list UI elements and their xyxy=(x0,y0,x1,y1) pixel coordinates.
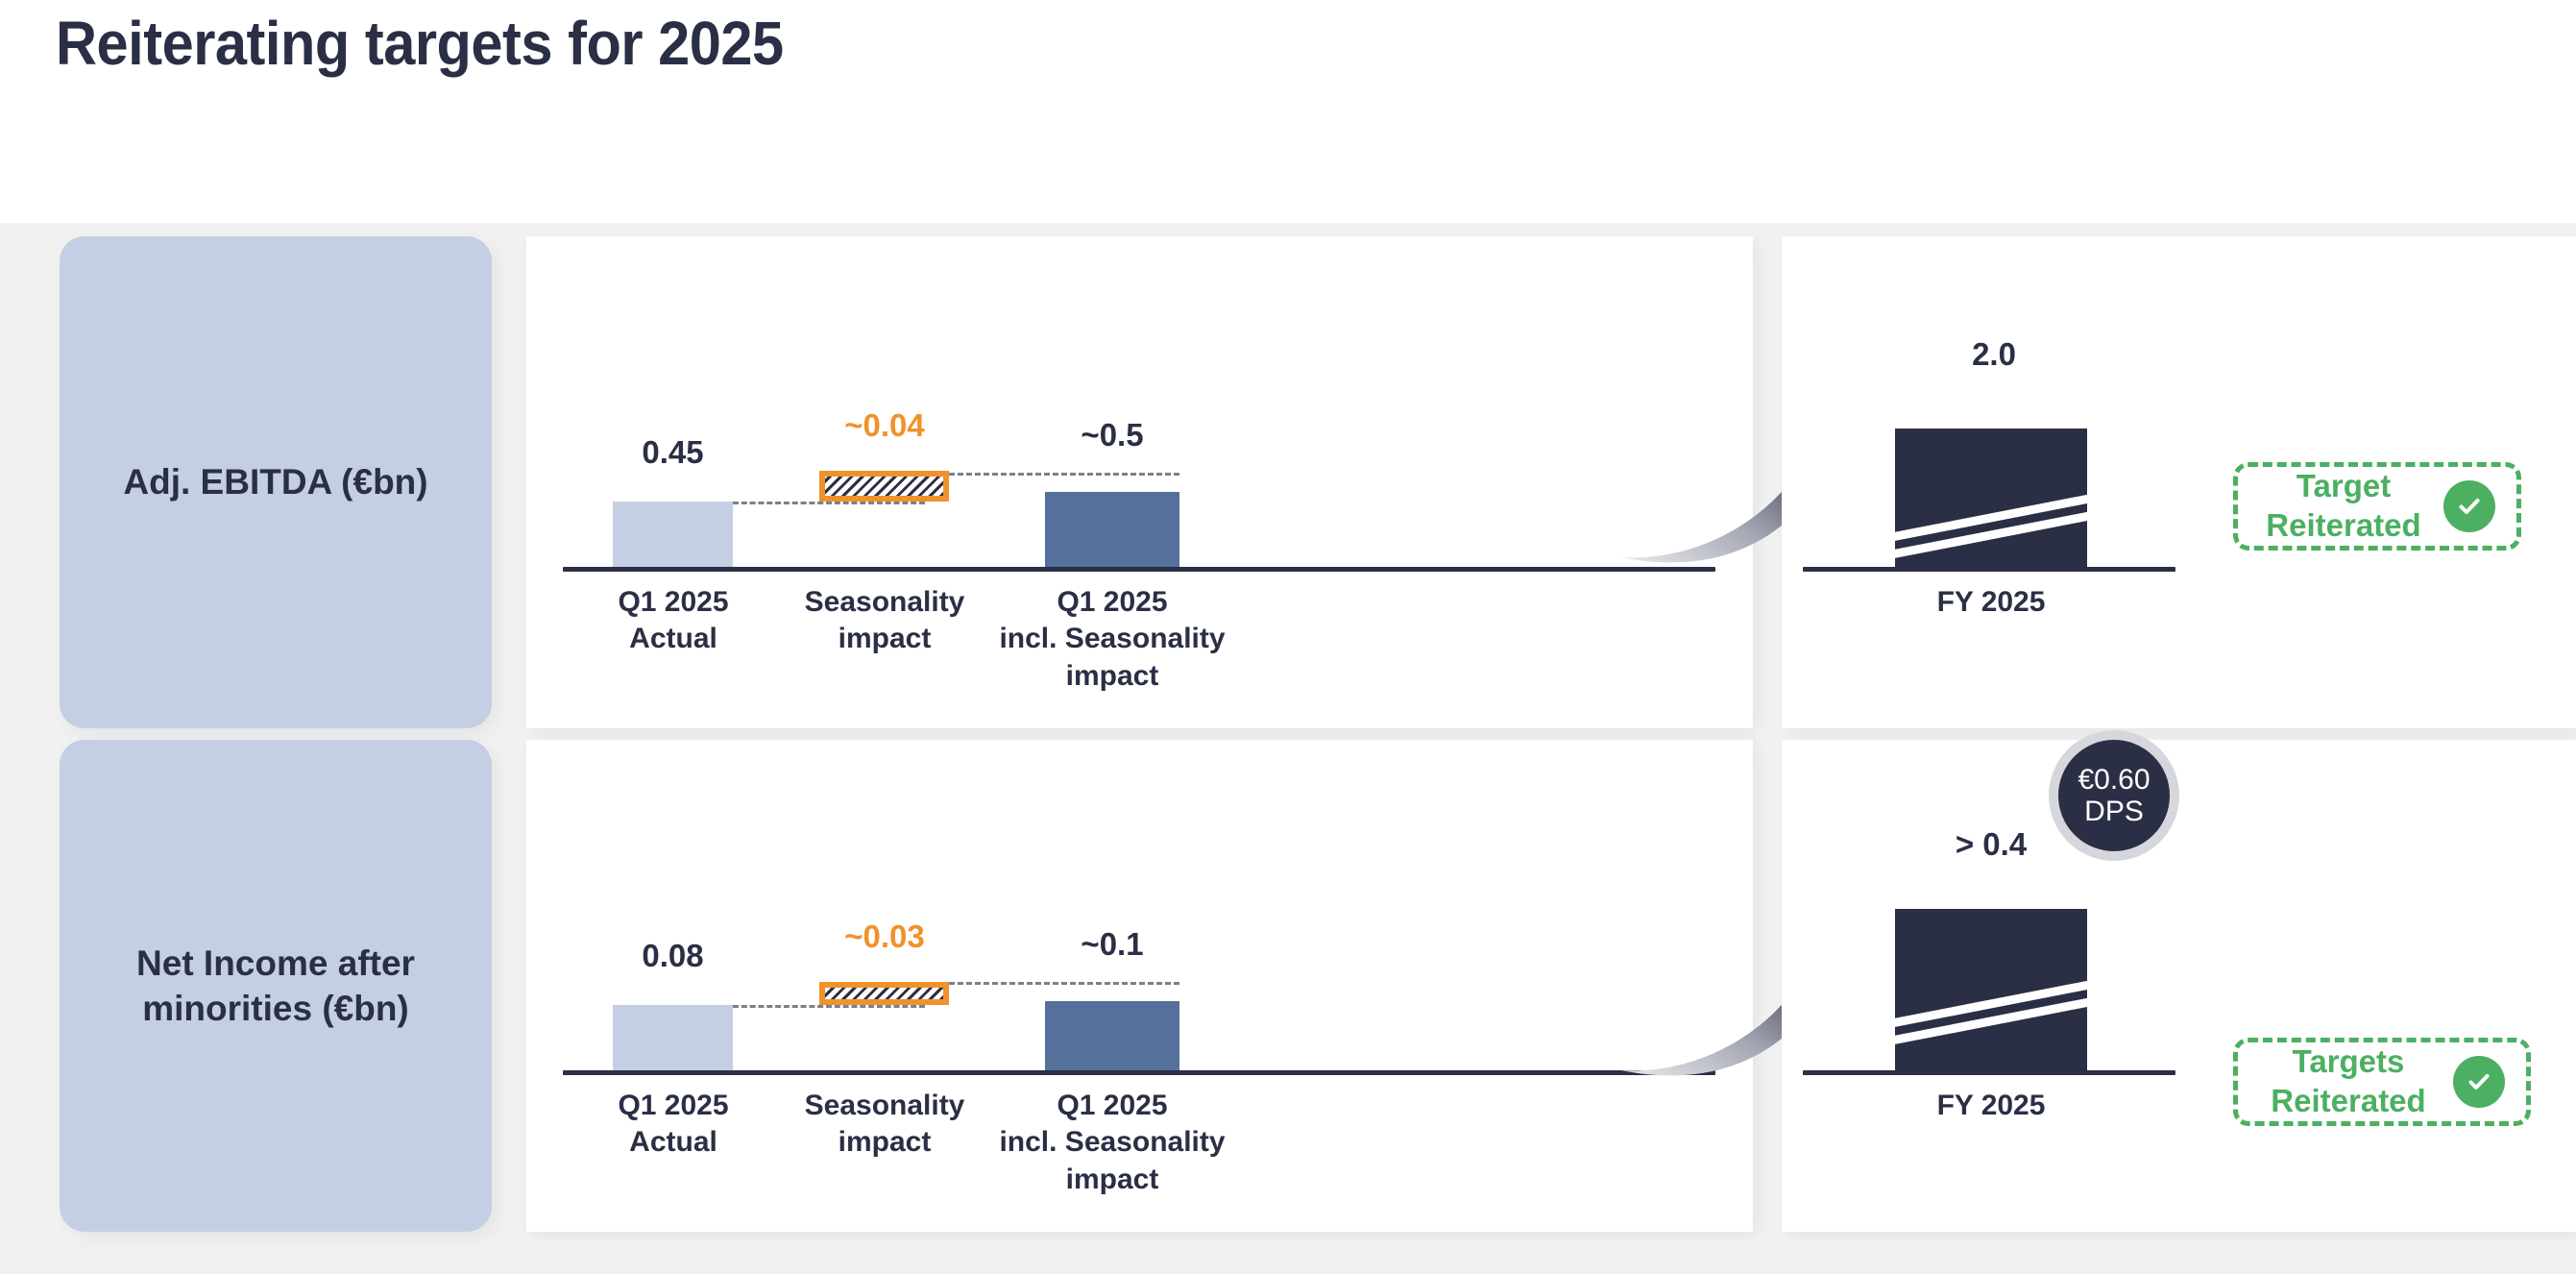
bar-value-q1-incl-seasonality: ~0.1 xyxy=(1018,926,1206,963)
check-circle-icon xyxy=(2453,1056,2505,1108)
bar-q1-incl-seasonality xyxy=(1045,1001,1179,1070)
bar-value-q1-incl-seasonality: ~0.5 xyxy=(1018,417,1206,453)
target-tag-text: Target Reiterated xyxy=(2238,467,2440,546)
bar-category-seasonality-impact: Seasonality impact xyxy=(774,584,995,658)
leader-line-2 xyxy=(949,982,1179,985)
target-panel-net-income: > 0.4 FY 2025 €0.60 DPS Targets Reiterat… xyxy=(1782,740,2576,1232)
target-axis xyxy=(1803,567,2175,572)
bridge-panel-net-income: 0.08 Q1 2025 Actual ~0.03 Seasonality im… xyxy=(526,740,1753,1232)
leader-line-1 xyxy=(733,1005,925,1008)
target-panel-adj-ebitda: 2.0 FY 2025 Target Reiterated xyxy=(1782,236,2576,728)
row-label-net-income: Net Income after minorities (€bn) xyxy=(60,740,492,1232)
slide-canvas: Reiterating targets for 2025 Adj. EBITDA… xyxy=(0,0,2576,1274)
category-line: impact xyxy=(983,658,1242,695)
row-label-line: Net Income after xyxy=(115,943,436,983)
category-line: Actual xyxy=(572,1124,774,1161)
bar-q1-actual xyxy=(613,502,733,567)
category-line: incl. Seasonality xyxy=(983,621,1242,657)
bar-seasonality-impact-hatched xyxy=(819,982,949,1005)
row-adj-ebitda: Adj. EBITDA (€bn) 0.45 Q1 2025 Actual ~0… xyxy=(0,236,2576,728)
category-line: Q1 2025 xyxy=(983,584,1242,621)
category-line: Q1 2025 xyxy=(572,584,774,621)
bar-value-seasonality-impact: ~0.03 xyxy=(793,919,976,955)
bar-category-fy-2025: FY 2025 xyxy=(1885,584,2097,621)
row-label-line: minorities (€bn) xyxy=(121,989,430,1028)
bar-value-fy-2025: 2.0 xyxy=(1903,336,2085,373)
bar-q1-actual xyxy=(613,1005,733,1070)
target-axis xyxy=(1803,1070,2175,1075)
row-label-adj-ebitda: Adj. EBITDA (€bn) xyxy=(60,236,492,728)
page-title: Reiterating targets for 2025 xyxy=(56,8,784,79)
target-tag-line: Targets xyxy=(2248,1042,2449,1082)
category-line: impact xyxy=(983,1162,1242,1198)
dps-badge: €0.60 DPS xyxy=(2049,730,2179,861)
bar-seasonality-impact-hatched xyxy=(819,471,949,502)
leader-line-1 xyxy=(733,502,925,504)
row-net-income: Net Income after minorities (€bn) 0.08 Q… xyxy=(0,740,2576,1232)
bar-category-q1-incl-seasonality: Q1 2025 incl. Seasonality impact xyxy=(983,1088,1242,1198)
bar-q1-incl-seasonality xyxy=(1045,492,1179,567)
category-line: Seasonality xyxy=(774,584,995,621)
bar-value-seasonality-impact: ~0.04 xyxy=(793,407,976,444)
bar-category-seasonality-impact: Seasonality impact xyxy=(774,1088,995,1162)
category-line: Actual xyxy=(572,621,774,657)
row-label-text: Net Income after minorities (€bn) xyxy=(94,941,457,1032)
category-line: Q1 2025 xyxy=(572,1088,774,1124)
bar-value-q1-actual: 0.08 xyxy=(584,938,762,974)
bar-category-q1-incl-seasonality: Q1 2025 incl. Seasonality impact xyxy=(983,584,1242,695)
bridge-axis xyxy=(563,567,1715,572)
row-label-text: Adj. EBITDA (€bn) xyxy=(102,459,449,504)
category-line: Q1 2025 xyxy=(983,1088,1242,1124)
bar-category-q1-actual: Q1 2025 Actual xyxy=(572,584,774,658)
bridge-panel-adj-ebitda: 0.45 Q1 2025 Actual ~0.04 Seasonality im… xyxy=(526,236,1753,728)
bar-fy-2025 xyxy=(1895,429,2087,567)
bridge-axis xyxy=(563,1070,1715,1075)
target-tag-line: Target xyxy=(2248,467,2440,506)
targets-reiterated-tag: Targets Reiterated xyxy=(2233,1038,2531,1126)
bar-value-fy-2025: > 0.4 xyxy=(1897,826,2085,863)
check-circle-icon xyxy=(2443,480,2495,532)
leader-line-2 xyxy=(949,473,1179,476)
bar-category-q1-actual: Q1 2025 Actual xyxy=(572,1088,774,1162)
bar-fy-2025 xyxy=(1895,909,2087,1070)
bar-category-fy-2025: FY 2025 xyxy=(1885,1088,2097,1124)
target-tag-text: Targets Reiterated xyxy=(2238,1042,2449,1121)
target-reiterated-tag: Target Reiterated xyxy=(2233,462,2521,551)
category-line: impact xyxy=(774,1124,995,1161)
category-line: incl. Seasonality xyxy=(983,1124,1242,1161)
category-line: impact xyxy=(774,621,995,657)
dps-amount: €0.60 xyxy=(2078,764,2150,796)
target-tag-line: Reiterated xyxy=(2248,506,2440,546)
bar-value-q1-actual: 0.45 xyxy=(584,434,762,471)
dps-label: DPS xyxy=(2084,796,2144,827)
category-line: Seasonality xyxy=(774,1088,995,1124)
target-tag-line: Reiterated xyxy=(2248,1082,2449,1121)
